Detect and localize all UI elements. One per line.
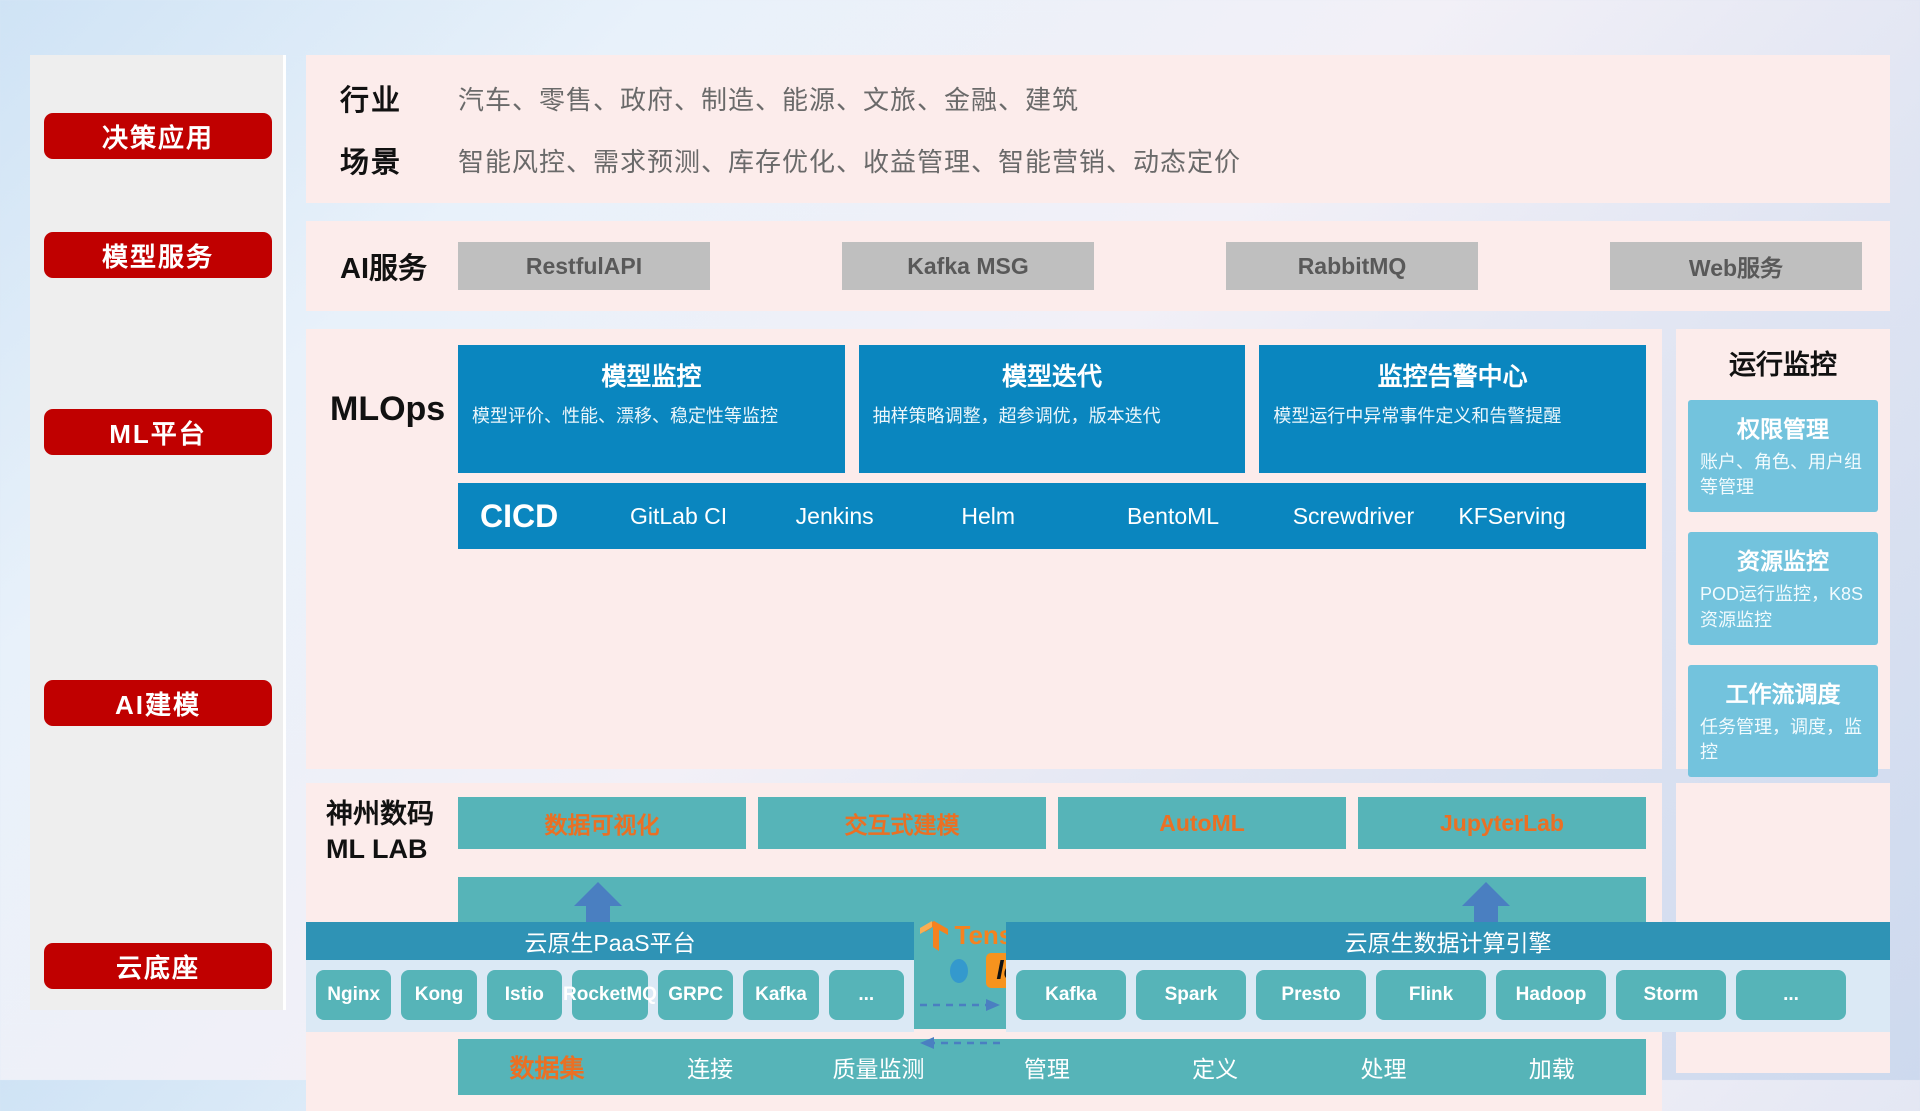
- cicd-item[interactable]: Screwdriver: [1293, 504, 1459, 528]
- engine-title: 云原生数据计算引擎: [1006, 922, 1890, 960]
- paas-stack: 云原生PaaS平台 Nginx Kong Istio RocketMQ GRPC…: [306, 922, 914, 1032]
- paas-chip-kong[interactable]: Kong: [401, 970, 476, 1020]
- paas-chip-nginx[interactable]: Nginx: [316, 970, 391, 1020]
- card-desc: 抽样策略调整，超参调优，版本迭代: [873, 403, 1232, 429]
- engine-chip-flink[interactable]: Flink: [1376, 970, 1486, 1020]
- cloud-base-section: 云原生PaaS平台 Nginx Kong Istio RocketMQ GRPC…: [306, 880, 1890, 1070]
- spacer: [306, 203, 1890, 221]
- engine-items: Kafka Spark Presto Flink Hadoop Storm ..…: [1006, 960, 1890, 1024]
- industry-row: 行业 汽车、零售、政府、制造、能源、文旅、金融、建筑: [340, 77, 1890, 119]
- engine-chip-kafka[interactable]: Kafka: [1016, 970, 1126, 1020]
- mlops-card-model-monitoring[interactable]: 模型监控 模型评价、性能、漂移、稳定性等监控: [458, 345, 845, 473]
- mlops-and-monitor: MLOps 模型监控 模型评价、性能、漂移、稳定性等监控 模型迭代 抽样策略调整…: [306, 329, 1890, 769]
- modeling-tabs-row: 神州数码 ML LAB 数据可视化 交互式建模 AutoML JupyterLa…: [306, 797, 1662, 867]
- engine-chip-more[interactable]: ...: [1736, 970, 1846, 1020]
- engine-chip-spark[interactable]: Spark: [1136, 970, 1246, 1020]
- cicd-item[interactable]: Helm: [961, 504, 1127, 528]
- engine-chip-hadoop[interactable]: Hadoop: [1496, 970, 1606, 1020]
- card-desc: 账户、角色、用户组等管理: [1700, 450, 1866, 500]
- ai-service-chip[interactable]: RestfulAPI: [458, 242, 710, 290]
- paas-chip-more[interactable]: ...: [829, 970, 904, 1020]
- card-title: 监控告警中心: [1273, 357, 1632, 393]
- tab-jupyterlab[interactable]: JupyterLab: [1358, 797, 1646, 849]
- mlops-card-row: MLOps 模型监控 模型评价、性能、漂移、稳定性等监控 模型迭代 抽样策略调整…: [306, 345, 1662, 473]
- layer-tag-model-service[interactable]: 模型服务: [44, 232, 272, 278]
- engine-chip-storm[interactable]: Storm: [1616, 970, 1726, 1020]
- run-monitor-card-resource[interactable]: 资源监控 POD运行监控，K8S资源监控: [1688, 532, 1878, 644]
- modeling-key: 神州数码 ML LAB: [306, 797, 458, 867]
- cicd-item[interactable]: GitLab CI: [630, 504, 796, 528]
- paas-chip-kafka[interactable]: Kafka: [743, 970, 818, 1020]
- architecture-diagram: 决策应用 模型服务 ML平台 AI建模 云底座 行业 汽车、零售、政府、制造、能…: [0, 0, 1920, 1080]
- mlops-key: MLOps: [306, 345, 458, 473]
- mlops-block: MLOps 模型监控 模型评价、性能、漂移、稳定性等监控 模型迭代 抽样策略调整…: [306, 329, 1662, 769]
- cicd-bar: CICD GitLab CI Jenkins Helm BentoML Scre…: [458, 483, 1646, 549]
- cicd-items: GitLab CI Jenkins Helm BentoML Screwdriv…: [630, 504, 1624, 528]
- layer-tag-ai-modeling[interactable]: AI建模: [44, 680, 272, 726]
- modeling-key-line1: 神州数码: [326, 797, 434, 832]
- ai-service-items: RestfulAPI Kafka MSG RabbitMQ Web服务: [458, 242, 1890, 290]
- ai-service-chip[interactable]: Kafka MSG: [842, 242, 1094, 290]
- ai-service-band: AI服务 RestfulAPI Kafka MSG RabbitMQ Web服务: [306, 221, 1890, 311]
- layer-label: ML平台: [109, 414, 207, 451]
- industry-key: 行业: [340, 77, 458, 119]
- cicd-label: CICD: [480, 498, 630, 535]
- arrow-head-right-icon: [986, 999, 1000, 1011]
- ai-service-key: AI服务: [340, 245, 458, 287]
- paas-chip-grpc[interactable]: GRPC: [658, 970, 733, 1020]
- tab-interactive-modeling[interactable]: 交互式建模: [758, 797, 1046, 849]
- spacer: [306, 311, 1890, 329]
- data-engine-stack: 云原生数据计算引擎 Kafka Spark Presto Flink Hadoo…: [1006, 922, 1890, 1032]
- layer-label: AI建模: [115, 685, 201, 722]
- industry-value: 汽车、零售、政府、制造、能源、文旅、金融、建筑: [458, 80, 1079, 117]
- card-title: 模型监控: [472, 357, 831, 393]
- engine-chip-presto[interactable]: Presto: [1256, 970, 1366, 1020]
- card-desc: 模型评价、性能、漂移、稳定性等监控: [472, 403, 831, 429]
- layer-rail: [30, 55, 286, 1010]
- paas-chip-rocketmq[interactable]: RocketMQ: [572, 970, 648, 1020]
- layer-label: 模型服务: [102, 237, 214, 274]
- cicd-item[interactable]: KFServing: [1458, 504, 1624, 528]
- layer-label: 云底座: [116, 948, 200, 985]
- card-title: 权限管理: [1700, 410, 1866, 444]
- scenario-value: 智能风控、需求预测、库存优化、收益管理、智能营销、动态定价: [458, 142, 1241, 179]
- card-desc: 任务管理，调度，监控: [1700, 715, 1866, 765]
- mlops-cards: 模型监控 模型评价、性能、漂移、稳定性等监控 模型迭代 抽样策略调整，超参调优，…: [458, 345, 1662, 473]
- ai-service-chip[interactable]: Web服务: [1610, 242, 1862, 290]
- cicd-item[interactable]: Jenkins: [796, 504, 962, 528]
- scenario-row: 场景 智能风控、需求预测、库存优化、收益管理、智能营销、动态定价: [340, 139, 1890, 181]
- paas-title: 云原生PaaS平台: [306, 922, 914, 960]
- layer-label: 决策应用: [102, 118, 214, 155]
- mlops-card-model-iteration[interactable]: 模型迭代 抽样策略调整，超参调优，版本迭代: [859, 345, 1246, 473]
- card-title: 工作流调度: [1700, 675, 1866, 709]
- run-monitor-card-workflow[interactable]: 工作流调度 任务管理，调度，监控: [1688, 665, 1878, 777]
- layer-tag-cloud-base[interactable]: 云底座: [44, 943, 272, 989]
- run-monitor-panel: 运行监控 权限管理 账户、角色、用户组等管理 资源监控 POD运行监控，K8S资…: [1676, 329, 1890, 769]
- scenario-key: 场景: [340, 139, 458, 181]
- industry-scenario-band: 行业 汽车、零售、政府、制造、能源、文旅、金融、建筑 场景 智能风控、需求预测、…: [306, 55, 1890, 203]
- run-monitor-title: 运行监控: [1729, 343, 1837, 382]
- arrow-head-left-icon: [920, 1037, 934, 1049]
- card-desc: POD运行监控，K8S资源监控: [1700, 582, 1866, 632]
- card-title: 资源监控: [1700, 542, 1866, 576]
- run-monitor-card-permission[interactable]: 权限管理 账户、角色、用户组等管理: [1688, 400, 1878, 512]
- paas-chip-istio[interactable]: Istio: [487, 970, 562, 1020]
- card-title: 模型迭代: [873, 357, 1232, 393]
- modeling-tabs: 数据可视化 交互式建模 AutoML JupyterLab: [458, 797, 1662, 867]
- mlops-card-alert-center[interactable]: 监控告警中心 模型运行中异常事件定义和告警提醒: [1259, 345, 1646, 473]
- tab-data-visualization[interactable]: 数据可视化: [458, 797, 746, 849]
- ai-service-chip[interactable]: RabbitMQ: [1226, 242, 1478, 290]
- layer-tag-ml-platform[interactable]: ML平台: [44, 409, 272, 455]
- modeling-key-line2: ML LAB: [326, 832, 434, 867]
- paas-items: Nginx Kong Istio RocketMQ GRPC Kafka ...: [306, 960, 914, 1024]
- cicd-item[interactable]: BentoML: [1127, 504, 1293, 528]
- tab-automl[interactable]: AutoML: [1058, 797, 1346, 849]
- layer-tag-decision-app[interactable]: 决策应用: [44, 113, 272, 159]
- card-desc: 模型运行中异常事件定义和告警提醒: [1273, 403, 1632, 429]
